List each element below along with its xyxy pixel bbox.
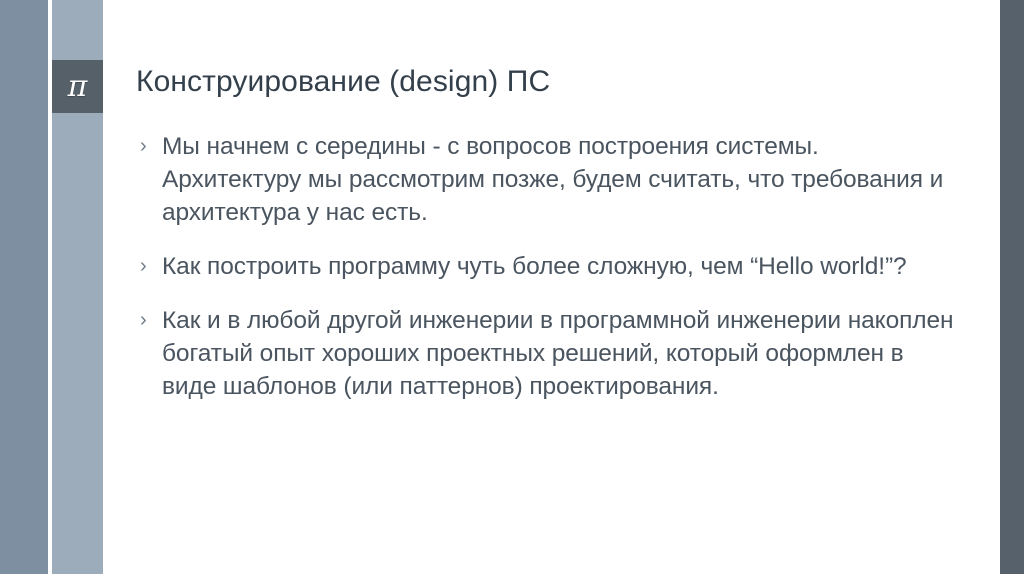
right-accent-bar bbox=[1000, 0, 1024, 574]
presentation-slide: π Конструирование (design) ПС › Мы начне… bbox=[0, 0, 1024, 574]
left-outer-accent-bar bbox=[0, 0, 48, 574]
chevron-right-icon: › bbox=[140, 130, 147, 163]
list-item: › Как и в любой другой инженерии в прогр… bbox=[136, 304, 956, 403]
slide-content: Конструирование (design) ПС › Мы начнем … bbox=[136, 0, 986, 574]
list-item-text: Как и в любой другой инженерии в програм… bbox=[162, 304, 956, 403]
list-item: › Как построить программу чуть более сло… bbox=[136, 250, 956, 283]
chevron-right-icon: › bbox=[140, 250, 147, 283]
pi-icon: π bbox=[68, 72, 88, 102]
list-item-text: Как построить программу чуть более сложн… bbox=[162, 250, 956, 283]
list-item-text: Мы начнем с середины - с вопросов постро… bbox=[162, 130, 956, 229]
bullet-list: › Мы начнем с середины - с вопросов пост… bbox=[136, 130, 956, 403]
pi-logo-box: π bbox=[52, 60, 103, 113]
chevron-right-icon: › bbox=[140, 304, 147, 337]
page-title: Конструирование (design) ПС bbox=[136, 64, 550, 100]
list-item: › Мы начнем с середины - с вопросов пост… bbox=[136, 130, 956, 229]
